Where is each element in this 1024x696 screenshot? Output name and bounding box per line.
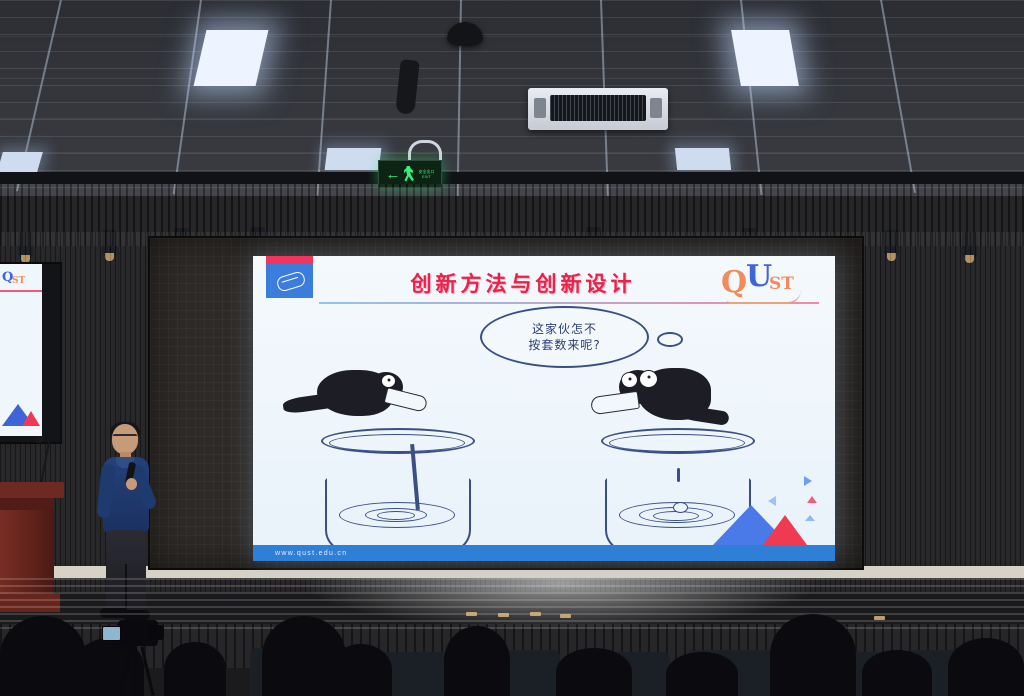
audience-head <box>444 626 510 696</box>
crow-beak-icon <box>384 387 429 413</box>
video-camera-on-tripod <box>104 620 166 696</box>
ac-grill <box>550 95 646 121</box>
crow-beak-icon <box>590 391 640 416</box>
cartoon-left-reform: 改革 <box>281 366 511 556</box>
decor-mini-square <box>807 496 817 503</box>
slide-badge <box>266 264 313 298</box>
exit-arrow-icon: ← <box>386 167 401 182</box>
decor-mini-triangle <box>804 476 812 486</box>
decor-mini-triangle <box>768 496 776 506</box>
camera-lens-icon <box>148 625 164 640</box>
ceiling-light-panel <box>194 30 269 86</box>
ceiling-light-panel <box>675 148 731 170</box>
ceiling-light-panel <box>731 30 799 86</box>
side-monitor-rule <box>0 290 42 292</box>
ceiling-tile-lines <box>0 0 1024 196</box>
audience-head <box>770 614 856 696</box>
air-conditioner-unit <box>528 88 668 130</box>
slide-accent-bar <box>266 256 313 264</box>
ceiling <box>0 0 1024 196</box>
presentation-slide: 创新方法与创新设计 Q U ST 这家伙怎不 按套数来呢? <box>253 256 835 561</box>
crow-eye-icon <box>639 370 658 388</box>
audience-head <box>948 638 1024 696</box>
audience-head <box>330 644 392 696</box>
crow-with-pebble <box>585 360 725 438</box>
side-monitor: Q ST <box>0 262 62 444</box>
floor-reflection <box>300 578 820 630</box>
glasses-icon <box>113 434 137 441</box>
slide-footer: www.qust.edu.cn <box>253 545 835 561</box>
bubble-line-2: 按套数来呢? <box>528 338 600 352</box>
running-man-icon <box>404 166 416 182</box>
audience-head <box>862 650 932 696</box>
camera-lcd-screen <box>102 626 121 641</box>
ceiling-light-panel <box>0 152 43 172</box>
decor-mini-square <box>805 515 815 521</box>
crow-eye-icon <box>621 372 638 388</box>
ceiling-light-panel <box>325 148 382 170</box>
crow-with-straw <box>293 366 423 436</box>
side-monitor-logo-st: ST <box>12 276 25 286</box>
footer-url: www.qust.edu.cn <box>275 550 347 557</box>
decor-red-triangle <box>763 515 807 545</box>
slide-title: 创新方法与创新设计 <box>373 268 673 298</box>
side-monitor-red-triangle <box>22 411 40 426</box>
pencil-icon <box>275 270 306 293</box>
pebble-icon <box>673 502 688 513</box>
gooseneck-mic-head <box>34 436 44 443</box>
speech-bubble: 这家伙怎不 按套数来呢? <box>480 306 649 368</box>
bubble-line-1: 这家伙怎不 <box>532 322 597 336</box>
qust-logo: Q U ST <box>721 264 811 302</box>
logo-swoosh <box>727 290 801 304</box>
lighting-truss <box>0 172 1024 184</box>
speech-bubble-tail <box>657 332 683 347</box>
crow-eye-icon <box>381 374 396 388</box>
jar-left <box>321 428 471 550</box>
side-monitor-slide: Q ST <box>0 264 42 436</box>
audience-head <box>666 652 738 696</box>
audience-head <box>556 648 632 696</box>
audience-head <box>164 642 226 696</box>
falling-pebble-icon <box>677 468 680 482</box>
exit-label-en: EXIT <box>422 174 431 179</box>
lecture-hall-photo: ← 安全出口 EXIT Q ST 创新方法与创新设计 Q U <box>0 0 1024 696</box>
